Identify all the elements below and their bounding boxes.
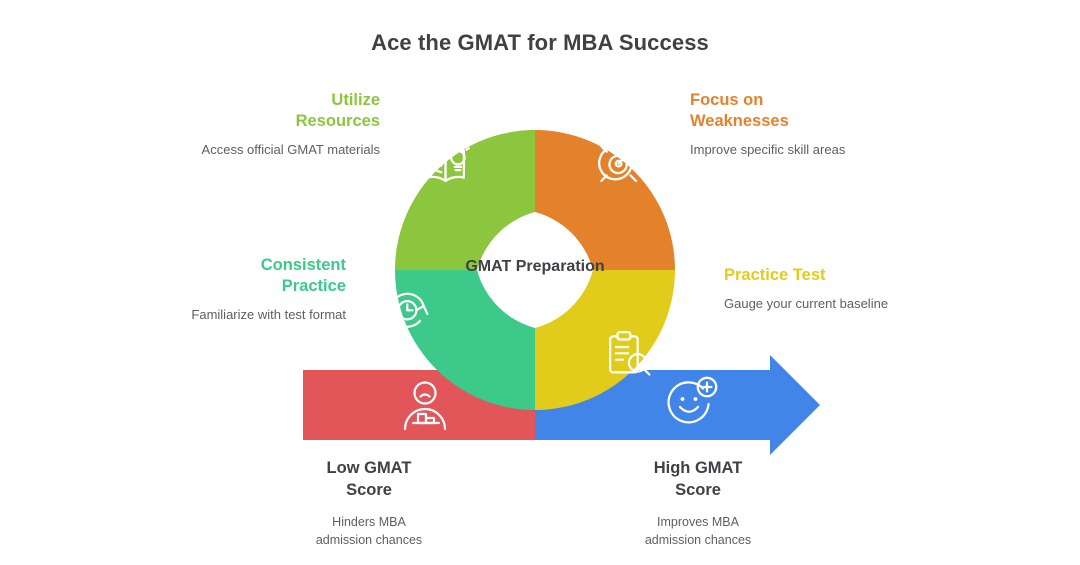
label-consistent-practice-desc: Familiarize with test format (168, 306, 346, 325)
outcome-high-gmat-score-desc: Improves MBA admission chances (592, 513, 804, 551)
label-consistent-practice-title: Consistent Practice (168, 255, 346, 297)
donut-center-label: GMAT Preparation (420, 258, 650, 276)
outcome-low-gmat-score: Low GMAT Score Hinders MBA admission cha… (263, 458, 475, 550)
label-consistent-practice: Consistent Practice Familiarize with tes… (168, 255, 346, 325)
label-focus-on-weaknesses-title: Focus on Weaknesses (690, 90, 900, 132)
outcome-low-gmat-score-desc: Hinders MBA admission chances (263, 513, 475, 551)
infographic-canvas: Ace the GMAT for MBA Success (0, 0, 1080, 565)
label-focus-on-weaknesses: Focus on Weaknesses Improve specific ski… (690, 90, 900, 160)
label-utilize-resources: Utilize Resources Access official GMAT m… (188, 90, 380, 160)
label-practice-test-desc: Gauge your current baseline (724, 295, 934, 314)
label-utilize-resources-desc: Access official GMAT materials (188, 141, 380, 160)
label-practice-test-title: Practice Test (724, 265, 934, 286)
outcome-high-gmat-score-title: High GMAT Score (592, 458, 804, 502)
label-utilize-resources-title: Utilize Resources (188, 90, 380, 132)
outcome-high-gmat-score: High GMAT Score Improves MBA admission c… (592, 458, 804, 550)
outcome-low-gmat-score-title: Low GMAT Score (263, 458, 475, 502)
label-focus-on-weaknesses-desc: Improve specific skill areas (690, 141, 900, 160)
label-practice-test: Practice Test Gauge your current baselin… (724, 265, 934, 314)
